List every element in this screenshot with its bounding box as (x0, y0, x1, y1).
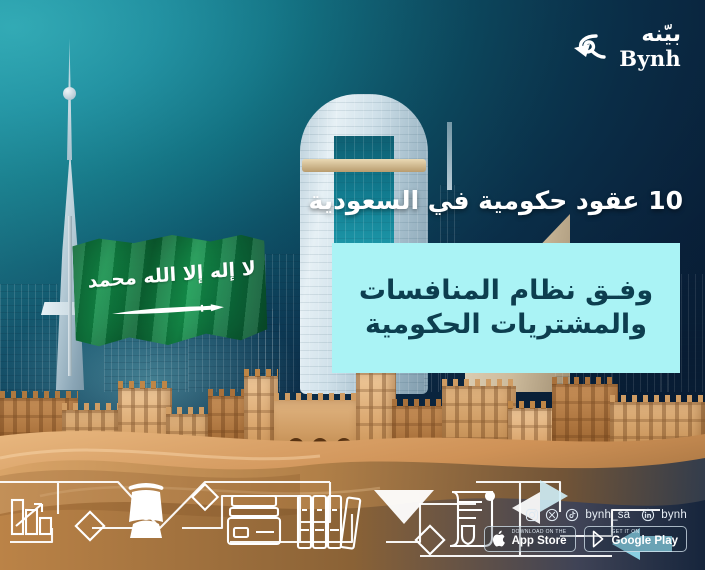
google-play-label-group: GET IT ON Google Play (612, 530, 678, 548)
payment-card-icon (228, 496, 280, 544)
instagram-icon[interactable] (525, 508, 539, 522)
google-play-icon (591, 530, 607, 548)
tiktok-icon[interactable] (565, 508, 579, 522)
logo-latin-text: Bynh (619, 48, 681, 69)
page-title: 10 عقود حكومية في السعودية (323, 186, 683, 216)
subtitle-line-2: والمشتريات الحكومية (365, 310, 647, 340)
diamond-node-icon (192, 484, 217, 509)
google-play-large-label: Google Play (612, 536, 678, 548)
antenna-mast (447, 122, 452, 190)
logo-arabic-text: بيّنه (641, 24, 681, 46)
x-twitter-icon[interactable] (545, 508, 559, 522)
apple-icon (491, 530, 507, 548)
logo-wordmark: بيّنه Bynh (619, 24, 681, 69)
poster-canvas: لا إله إلا الله محمد رسول الله (0, 0, 705, 570)
funnel-icon (374, 490, 434, 524)
subtitle-highlight-box: وفـق نظام المنافسات والمشتريات الحكومية (332, 243, 680, 373)
al-faisaliah-globe (63, 87, 76, 100)
app-store-badges: Download on the App Store GET IT ON Goog… (484, 526, 687, 552)
bar-chart-icon (12, 500, 51, 534)
google-play-button[interactable]: GET IT ON Google Play (584, 526, 687, 552)
diamond-node-icon (76, 512, 104, 540)
app-store-label-group: Download on the App Store (512, 530, 567, 548)
saudi-flag: لا إله إلا الله محمد رسول الله (72, 228, 268, 356)
social-handle-primary[interactable]: bynh_sa (585, 509, 630, 521)
linkedin-icon[interactable] (641, 508, 655, 522)
subtitle-line-1: وفـق نظام المنافسات (359, 276, 653, 306)
knot-ribbon-mark-icon (570, 27, 610, 67)
brand-logo[interactable]: بيّنه Bynh (570, 24, 681, 69)
app-store-large-label: App Store (512, 536, 567, 548)
person-thobe-icon (129, 483, 164, 538)
kingdom-centre-skybridge (302, 159, 426, 172)
social-handles: bynh_sa bynh (525, 508, 687, 522)
app-store-button[interactable]: Download on the App Store (484, 526, 576, 552)
social-handle-linkedin[interactable]: bynh (661, 509, 687, 521)
